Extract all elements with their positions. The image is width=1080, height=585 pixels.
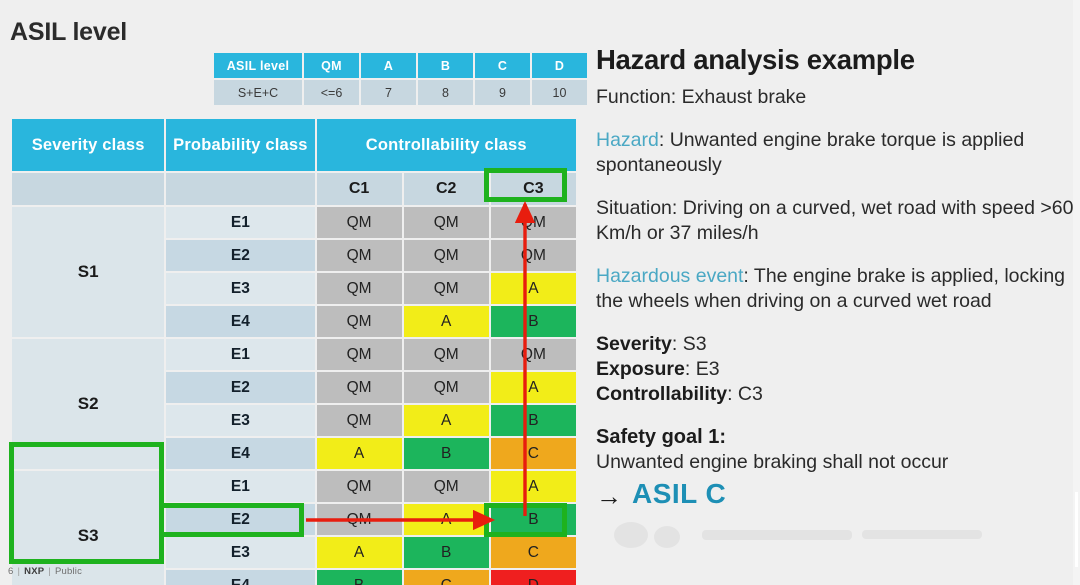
exposure-cell: E2 (166, 372, 314, 403)
ref-header-cell: B (418, 53, 473, 78)
matrix-value-cell: QM (491, 339, 576, 370)
severity-cell-s2: S2 (12, 339, 164, 469)
matrix-value-cell: A (491, 372, 576, 403)
function-line: Function: Exhaust brake (596, 85, 1074, 110)
ref-header-cell: QM (304, 53, 359, 78)
matrix-value-cell: QM (491, 207, 576, 238)
exposure-cell: E4 (166, 438, 314, 469)
situation-block: Situation: Driving on a curved, wet road… (596, 196, 1074, 246)
exposure-label: Exposure (596, 358, 685, 380)
exposure-line: Exposure: E3 (596, 357, 1074, 382)
matrix-value-cell: QM (317, 471, 402, 502)
exposure-cell: E4 (166, 306, 314, 337)
matrix-value-cell: A (404, 504, 489, 535)
matrix-value-cell: C (491, 438, 576, 469)
matrix-value-cell: B (491, 306, 576, 337)
controllability-line: Controllability: C3 (596, 382, 1074, 407)
subheader-spacer (12, 173, 164, 205)
matrix-value-cell: C (404, 570, 489, 585)
matrix-value-cell: QM (317, 306, 402, 337)
ref-value-cell: <=6 (304, 80, 359, 105)
slide-root: ASIL level ASIL level QM A B C D S+E+C <… (0, 0, 1080, 585)
ref-header-cell: C (475, 53, 530, 78)
matrix-value-cell: QM (404, 339, 489, 370)
safety-goal-text: Unwanted engine braking shall not occur (596, 450, 1074, 475)
matrix-value-cell: QM (317, 207, 402, 238)
hazardous-event-block: Hazardous event: The engine brake is app… (596, 264, 1074, 314)
matrix-value-cell: B (491, 504, 576, 535)
safety-goal-title: Safety goal 1: (596, 425, 1074, 450)
matrix-value-cell: QM (317, 273, 402, 304)
asil-determination-matrix: Severity class Probability class Control… (10, 117, 578, 585)
exposure-cell: E3 (166, 405, 314, 436)
matrix-value-cell: QM (404, 207, 489, 238)
right-arrow-icon: → (596, 481, 622, 511)
severity-label: Severity (596, 333, 672, 355)
matrix-value-cell: QM (491, 240, 576, 271)
probability-class-header: Probability class (166, 119, 314, 171)
controllability-value: : C3 (727, 383, 763, 405)
hazard-analysis-panel: Hazard analysis example Function: Exhaus… (596, 44, 1074, 510)
ref-value-cell: 7 (361, 80, 416, 105)
exposure-cell: E1 (166, 207, 314, 238)
asil-result-line: →ASIL C (596, 481, 1074, 510)
exposure-cell: E2 (166, 504, 314, 535)
hazard-label: Hazard (596, 129, 659, 151)
exposure-value: : E3 (685, 358, 720, 380)
matrix-value-cell: QM (317, 240, 402, 271)
matrix-value-cell: A (491, 273, 576, 304)
exposure-cell: E3 (166, 537, 314, 568)
controllability-c1-header: C1 (317, 173, 402, 205)
ref-value-cell: S+E+C (214, 80, 302, 105)
matrix-value-cell: B (491, 405, 576, 436)
hazard-block: Hazard: Unwanted engine brake torque is … (596, 128, 1074, 178)
matrix-value-cell: QM (317, 372, 402, 403)
matrix-subheader-row: C1 C2 C3 (12, 173, 576, 205)
controllability-c2-header: C2 (404, 173, 489, 205)
ref-value-cell: 9 (475, 80, 530, 105)
hazardous-event-label: Hazardous event (596, 265, 743, 287)
footer-classification: Public (55, 566, 82, 577)
severity-cell-s1: S1 (12, 207, 164, 337)
reference-value-row: S+E+C <=6 7 8 9 10 (214, 80, 587, 105)
classification-block: Severity: S3 Exposure: E3 Controllabilit… (596, 332, 1074, 407)
matrix-value-cell: A (491, 471, 576, 502)
exposure-cell: E1 (166, 471, 314, 502)
controllability-c3-header: C3 (491, 173, 576, 205)
ref-value-cell: 8 (418, 80, 473, 105)
matrix-header-row: Severity class Probability class Control… (12, 119, 576, 171)
ref-value-cell: 10 (532, 80, 587, 105)
footer: 6|NXP|Public (8, 566, 82, 577)
safety-goal-block: Safety goal 1: Unwanted engine braking s… (596, 425, 1074, 510)
subheader-spacer (166, 173, 314, 205)
controllability-label: Controllability (596, 383, 727, 405)
exposure-cell: E2 (166, 240, 314, 271)
severity-line: Severity: S3 (596, 332, 1074, 357)
matrix-value-cell: QM (317, 504, 402, 535)
matrix-value-cell: D (491, 570, 576, 585)
footer-page-number: 6 (8, 566, 13, 577)
severity-class-header: Severity class (12, 119, 164, 171)
matrix-value-cell: A (317, 537, 402, 568)
matrix-row: S1E1QMQMQM (12, 207, 576, 238)
ref-header-cell: ASIL level (214, 53, 302, 78)
matrix-value-cell: B (404, 438, 489, 469)
ref-header-cell: A (361, 53, 416, 78)
ref-header-cell: D (532, 53, 587, 78)
matrix-value-cell: QM (404, 471, 489, 502)
exposure-cell: E1 (166, 339, 314, 370)
watermark-overlay (612, 520, 1042, 554)
matrix-value-cell: QM (317, 339, 402, 370)
matrix-value-cell: C (491, 537, 576, 568)
matrix-row: S2E1QMQMQM (12, 339, 576, 370)
matrix-value-cell: A (404, 306, 489, 337)
matrix-value-cell: A (404, 405, 489, 436)
severity-value: : S3 (672, 333, 707, 355)
matrix-value-cell: A (317, 438, 402, 469)
asil-result-label: ASIL C (632, 478, 726, 509)
hazard-text: : Unwanted engine brake torque is applie… (596, 129, 1024, 176)
matrix-value-cell: B (404, 537, 489, 568)
controllability-class-header: Controllability class (317, 119, 576, 171)
exposure-cell: E4 (166, 570, 314, 585)
matrix-row: S3E1QMQMA (12, 471, 576, 502)
matrix-value-cell: B (317, 570, 402, 585)
exposure-cell: E3 (166, 273, 314, 304)
matrix-value-cell: QM (404, 240, 489, 271)
asil-reference-table: ASIL level QM A B C D S+E+C <=6 7 8 9 10 (212, 51, 589, 107)
right-edge-mark (1075, 492, 1078, 567)
page-title: ASIL level (10, 18, 127, 47)
matrix-value-cell: QM (317, 405, 402, 436)
matrix-value-cell: QM (404, 372, 489, 403)
panel-title: Hazard analysis example (596, 44, 1074, 76)
reference-header-row: ASIL level QM A B C D (214, 53, 587, 78)
matrix-value-cell: QM (404, 273, 489, 304)
footer-brand: NXP (24, 566, 44, 577)
